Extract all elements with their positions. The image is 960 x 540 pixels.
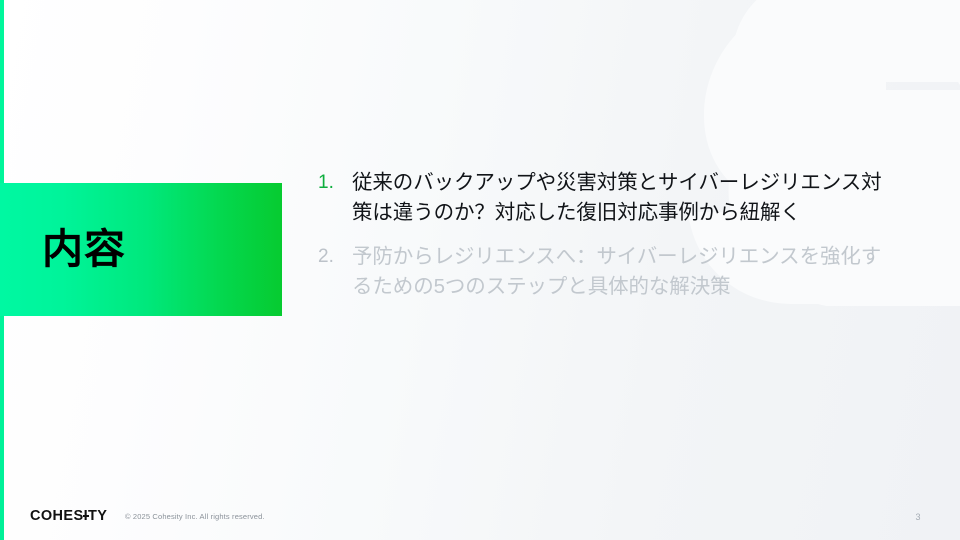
cohesity-logo-part-1: COHES — [30, 508, 84, 524]
agenda-item-2-label: 予防からレジリエンスへ：サイバーレジリエンスを強化するための5つのステップと具体… — [352, 242, 888, 302]
cohesity-logo: COHESITY — [30, 508, 107, 524]
cohesity-logo-part-2: I — [84, 508, 88, 524]
presentation-slide: 内容 1. 従来のバックアップや災害対策とサイバーレジリエンス対策は違うのか？対… — [0, 0, 960, 540]
page-number: 3 — [908, 512, 928, 522]
agenda-list: 1. 従来のバックアップや災害対策とサイバーレジリエンス対策は違うのか？対応した… — [318, 168, 888, 316]
agenda-item-1[interactable]: 1. 従来のバックアップや災害対策とサイバーレジリエンス対策は違うのか？対応した… — [318, 168, 888, 228]
agenda-item-2[interactable]: 2. 予防からレジリエンスへ：サイバーレジリエンスを強化するための5つのステップ… — [318, 242, 888, 302]
agenda-item-2-number: 2. — [318, 242, 352, 272]
slide-title-block: 内容 — [0, 183, 282, 316]
cohesity-logo-part-3: TY — [88, 508, 107, 524]
agenda-item-1-number: 1. — [318, 168, 352, 198]
agenda-item-1-label: 従来のバックアップや災害対策とサイバーレジリエンス対策は違うのか？対応した復旧対… — [352, 168, 888, 228]
page-title: 内容 — [42, 229, 126, 270]
copyright-notice: © 2025 Cohesity Inc. All rights reserved… — [125, 512, 265, 521]
